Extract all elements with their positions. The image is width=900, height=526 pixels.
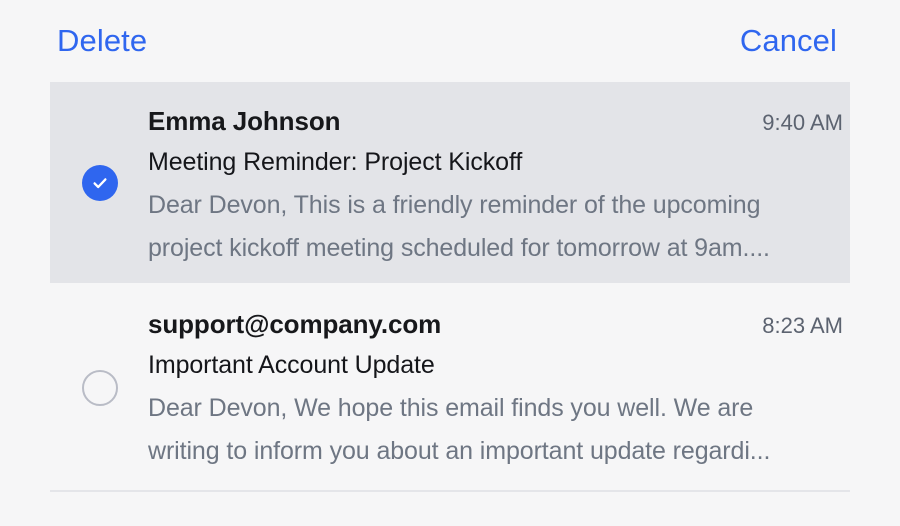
email-timestamp: 8:23 AM [762, 311, 844, 341]
delete-button[interactable]: Delete [57, 21, 147, 61]
selection-control-cell [50, 285, 148, 490]
email-content: Emma Johnson 9:40 AM Meeting Reminder: P… [148, 82, 850, 270]
email-header-line: support@company.com 8:23 AM [148, 307, 844, 341]
empty-circle-icon[interactable] [82, 370, 118, 406]
email-preview: Dear Devon, We hope this email finds you… [148, 387, 818, 473]
check-filled-circle-icon[interactable] [82, 165, 118, 201]
email-list-item[interactable]: support@company.com 8:23 AM Important Ac… [50, 285, 850, 490]
email-sender: support@company.com [148, 307, 441, 341]
email-timestamp: 9:40 AM [762, 108, 844, 138]
list-divider [50, 490, 850, 492]
email-preview: Dear Devon, This is a friendly reminder … [148, 184, 818, 270]
email-preview-line: Dear Devon, This is a friendly reminder … [148, 184, 818, 227]
email-preview-line: project kickoff meeting scheduled for to… [148, 227, 818, 270]
email-subject: Important Account Update [148, 343, 844, 387]
cancel-button[interactable]: Cancel [740, 21, 837, 61]
email-subject: Meeting Reminder: Project Kickoff [148, 140, 844, 184]
email-header-line: Emma Johnson 9:40 AM [148, 104, 844, 138]
action-toolbar: Delete Cancel [0, 0, 900, 82]
email-sender: Emma Johnson [148, 104, 340, 138]
email-preview-line: writing to inform you about an important… [148, 430, 818, 473]
email-list-item[interactable]: Emma Johnson 9:40 AM Meeting Reminder: P… [50, 82, 850, 283]
email-content: support@company.com 8:23 AM Important Ac… [148, 285, 850, 473]
selection-control-cell [50, 82, 148, 283]
email-list: Emma Johnson 9:40 AM Meeting Reminder: P… [0, 82, 900, 492]
email-preview-line: Dear Devon, We hope this email finds you… [148, 387, 818, 430]
